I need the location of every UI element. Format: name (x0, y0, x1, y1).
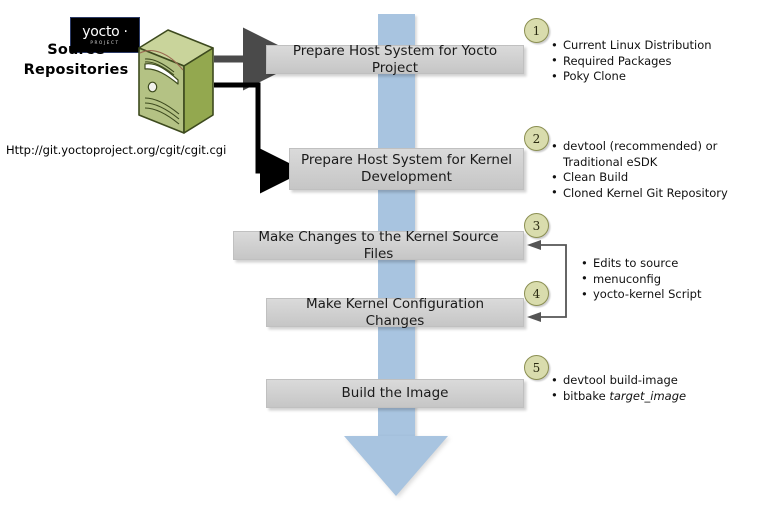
bitbake-command-prefix: bitbake (563, 389, 609, 403)
list-item: devtool (recommended) or (551, 139, 728, 155)
step-box-5-label: Build the Image (342, 385, 449, 402)
step-badge-1: 1 (524, 18, 549, 43)
list-item: devtool build-image (551, 373, 686, 389)
source-repositories-line2: Repositories (14, 60, 138, 80)
step-badge-3: 3 (524, 213, 549, 238)
source-repositories-label: Source Repositories (14, 40, 138, 80)
step-box-1[interactable]: Prepare Host System for Yocto Project (266, 45, 524, 74)
step-box-4-label: Make Kernel Configuration Changes (275, 296, 515, 330)
step-5-notes: devtool build-image bitbake target_image (551, 373, 686, 404)
step-box-2-label: Prepare Host System for Kernel Developme… (301, 152, 512, 186)
yocto-logo-wordmark: yocto · (82, 25, 127, 39)
step-3-4-shared-notes: Edits to source menuconfig yocto-kernel … (581, 256, 702, 303)
connector-source-to-step2 (214, 85, 265, 171)
step-box-2-label-line1: Prepare Host System for Kernel (301, 152, 512, 168)
list-item-continuation: Traditional eSDK (551, 155, 728, 171)
step-2-notes: devtool (recommended) or Traditional eSD… (551, 139, 728, 201)
list-item: menuconfig (581, 272, 702, 288)
list-item: yocto-kernel Script (581, 287, 702, 303)
step-box-3[interactable]: Make Changes to the Kernel Source Files (233, 231, 524, 260)
step-badge-4: 4 (524, 281, 549, 306)
list-item: Clean Build (551, 170, 728, 186)
step-box-5[interactable]: Build the Image (266, 379, 524, 408)
source-repository-url: Http://git.yoctoproject.org/cgit/cgit.cg… (6, 143, 226, 157)
list-item: Cloned Kernel Git Repository (551, 186, 728, 202)
bitbake-target-image-arg: target_image (609, 389, 686, 403)
step-badge-5: 5 (524, 355, 549, 380)
workflow-diagram: yocto · PROJECT Source Repositories Http… (0, 0, 769, 517)
flow-arrow-head (344, 436, 448, 496)
step-box-2[interactable]: Prepare Host System for Kernel Developme… (289, 148, 524, 190)
list-item: bitbake target_image (551, 389, 686, 405)
step-box-2-label-line2: Development (361, 169, 452, 185)
list-item: Current Linux Distribution (551, 38, 712, 54)
step-1-notes: Current Linux Distribution Required Pack… (551, 38, 712, 85)
step-box-4[interactable]: Make Kernel Configuration Changes (266, 298, 524, 327)
source-repositories-line1: Source (14, 40, 138, 60)
list-item: Edits to source (581, 256, 702, 272)
list-item: Poky Clone (551, 69, 712, 85)
step-box-3-label: Make Changes to the Kernel Source Files (242, 229, 515, 263)
list-item: Required Packages (551, 54, 712, 70)
step-box-1-label: Prepare Host System for Yocto Project (275, 43, 515, 77)
flow-arrow-shaft (378, 14, 415, 437)
step-badge-2: 2 (524, 126, 549, 151)
server-tower-icon (134, 26, 218, 138)
